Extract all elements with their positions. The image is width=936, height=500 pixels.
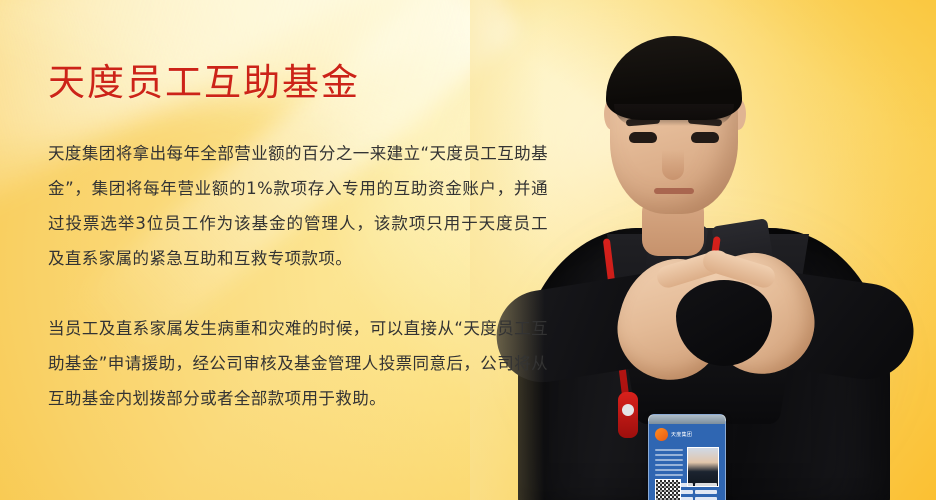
badge-side-text	[655, 449, 683, 479]
eye-right	[691, 132, 719, 143]
banner-copy: 天度员工互助基金 天度集团将拿出每年全部营业额的百分之一来建立“天度员工互助基金…	[48, 60, 548, 416]
body-paragraph-1: 天度集团将拿出每年全部营业额的百分之一来建立“天度员工互助基金”，集团将每年营业…	[48, 136, 548, 276]
badge-qr-code-icon	[655, 479, 681, 500]
page-title: 天度员工互助基金	[48, 60, 548, 106]
lanyard-clip	[618, 392, 638, 438]
badge-portrait-photo	[687, 447, 719, 487]
hair	[606, 36, 742, 120]
badge-holder-top	[649, 415, 725, 424]
employee-fund-banner: 天度集团 天度员工互助基金 天度集团将拿出每年全部营业额的百分之一来建立“天度员…	[0, 0, 936, 500]
badge-company-name: 天度集团	[671, 432, 692, 438]
nose	[662, 150, 684, 180]
body-paragraph-2: 当员工及直系家属发生病重和灾难的时候，可以直接从“天度员工互助基金”申请援助，经…	[48, 311, 548, 416]
badge-logo: 天度集团	[655, 428, 692, 441]
eye-left	[629, 132, 657, 143]
mouth	[654, 188, 694, 194]
badge-field-rows	[680, 483, 720, 500]
company-logo-icon	[655, 428, 668, 441]
employee-id-badge: 天度集团	[648, 414, 726, 500]
